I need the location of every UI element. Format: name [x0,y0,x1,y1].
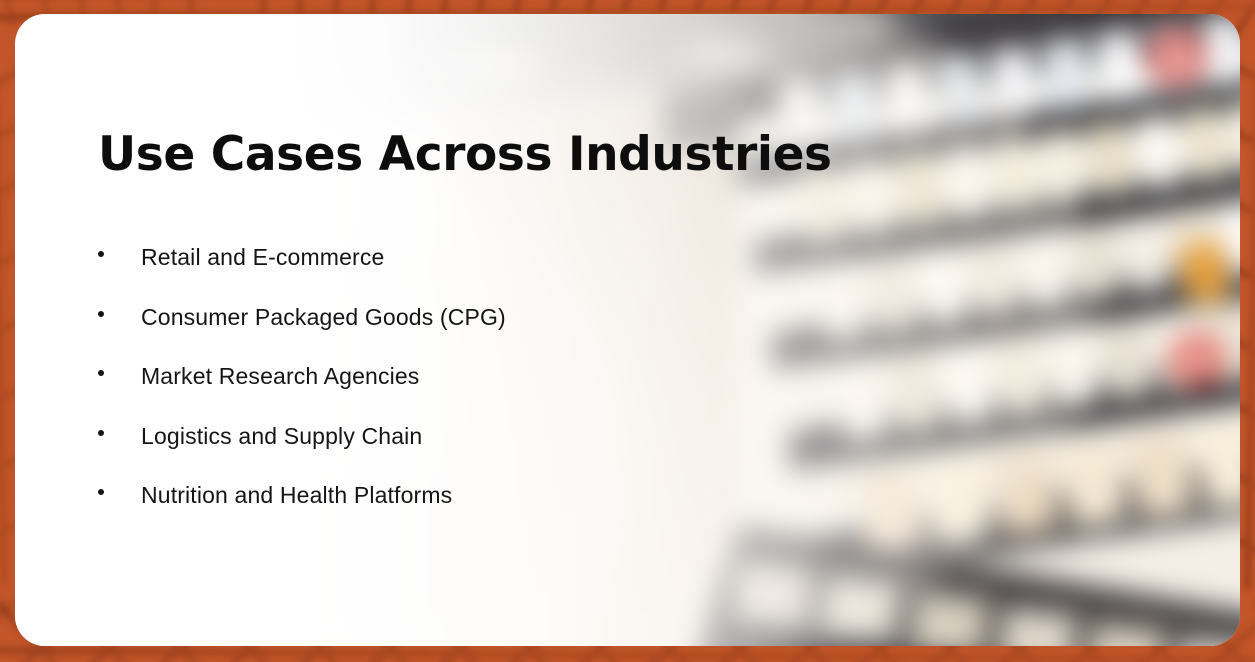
bullet-marker-icon [98,430,104,436]
list-item-label: Retail and E-commerce [141,246,384,269]
content-card: Use Cases Across Industries Retail and E… [15,14,1240,646]
use-case-bullet-list: Retail and E-commerce Consumer Packaged … [98,246,506,544]
bullet-marker-icon [98,251,104,257]
list-item: Consumer Packaged Goods (CPG) [98,306,506,366]
bullet-marker-icon [98,311,104,317]
page-title: Use Cases Across Industries [98,127,832,182]
text-content-block: Use Cases Across Industries Retail and E… [15,14,775,646]
list-item: Retail and E-commerce [98,246,506,306]
slide-root: Use Cases Across Industries Retail and E… [0,0,1255,662]
list-item-label: Logistics and Supply Chain [141,425,422,448]
bullet-marker-icon [98,489,104,495]
bullet-marker-icon [98,370,104,376]
list-item-label: Market Research Agencies [141,365,419,388]
list-item: Logistics and Supply Chain [98,425,506,485]
list-item: Nutrition and Health Platforms [98,484,506,544]
list-item-label: Nutrition and Health Platforms [141,484,452,507]
list-item-label: Consumer Packaged Goods (CPG) [141,306,506,329]
list-item: Market Research Agencies [98,365,506,425]
